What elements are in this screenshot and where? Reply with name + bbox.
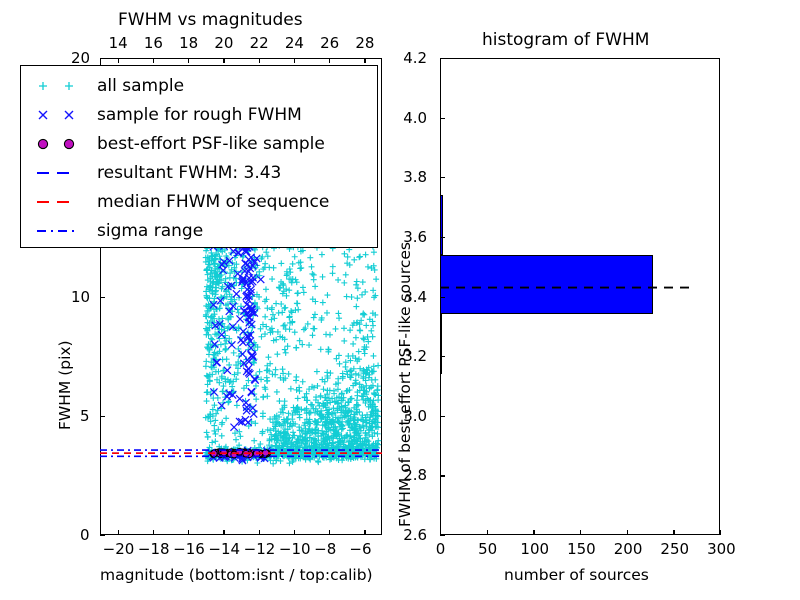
scatter-xtick-label-bottom: −20 xyxy=(103,542,135,557)
legend-item-1[interactable]: sample for rough FWHM xyxy=(21,101,379,129)
legend-marker-cross-icon xyxy=(29,101,77,129)
scatter-xtick-label-top: 18 xyxy=(179,36,198,51)
histogram-ytick-label: 4.2 xyxy=(403,51,427,66)
legend-label-4: median FHWM of sequence xyxy=(97,188,329,216)
figure-canvas: FWHM vs magnitudes FWHM (pix) magnitude … xyxy=(0,0,800,600)
legend-label-3: resultant FWHM: 3.43 xyxy=(97,159,281,187)
histogram-xtick xyxy=(720,530,721,535)
legend-item-5[interactable]: sigma range xyxy=(21,217,379,245)
scatter-xtick-top xyxy=(364,58,365,63)
scatter-xtick-bottom xyxy=(188,530,189,535)
scatter-ytick xyxy=(100,416,105,417)
histogram-y-axis-label: FWHM of best-effort PSF-like sources xyxy=(398,242,414,527)
scatter-xtick-label-bottom: −12 xyxy=(244,542,276,557)
scatter-ytick-label: 20 xyxy=(71,51,90,66)
scatter-ytick xyxy=(100,535,105,536)
legend-label-0: all sample xyxy=(97,72,184,100)
histogram-xtick xyxy=(580,530,581,535)
histogram-ytick xyxy=(440,475,445,476)
legend-item-2[interactable]: best-effort PSF-like sample xyxy=(21,130,379,158)
scatter-xtick-top xyxy=(188,58,189,63)
scatter-xtick-label-bottom: −6 xyxy=(349,542,371,557)
scatter-xtick-label-top: 20 xyxy=(214,36,233,51)
histogram-x-axis-label: number of sources xyxy=(504,568,649,584)
histogram-ytick xyxy=(440,535,445,536)
histogram-ytick xyxy=(440,237,445,238)
histogram-ytick-label: 3.4 xyxy=(403,290,427,305)
histogram-ytick-label: 3.8 xyxy=(403,170,427,185)
scatter-xtick-label-top: 16 xyxy=(144,36,163,51)
histogram-xtick xyxy=(673,530,674,535)
legend-item-4[interactable]: median FHWM of sequence xyxy=(21,188,379,216)
histogram-xtick-label: 150 xyxy=(567,542,596,557)
scatter-ytick xyxy=(100,297,105,298)
scatter-xtick-label-bottom: −14 xyxy=(208,542,240,557)
scatter-xtick-top xyxy=(329,58,330,63)
scatter-ytick xyxy=(100,58,105,59)
histogram-xtick-label: 200 xyxy=(614,542,643,557)
scatter-xtick-label-bottom: −18 xyxy=(138,542,170,557)
scatter-xtick-top xyxy=(223,58,224,63)
histogram-ytick xyxy=(440,118,445,119)
scatter-xtick-label-bottom: −16 xyxy=(173,542,205,557)
scatter-xtick-top xyxy=(294,58,295,63)
scatter-xtick-label-top: 28 xyxy=(355,36,374,51)
histogram-ytick xyxy=(440,416,445,417)
legend-item-0[interactable]: all sample xyxy=(21,72,379,100)
scatter-xtick-label-top: 24 xyxy=(285,36,304,51)
scatter-xtick-top xyxy=(259,58,260,63)
histogram-xtick-label: 50 xyxy=(478,542,497,557)
histogram-ytick xyxy=(440,297,445,298)
scatter-xtick-label-top: 22 xyxy=(250,36,269,51)
scatter-xtick-label-top: 26 xyxy=(320,36,339,51)
histogram-ytick xyxy=(440,177,445,178)
histogram-xtick-label: 250 xyxy=(660,542,689,557)
scatter-xtick-label-bottom: −10 xyxy=(279,542,311,557)
histogram-ytick xyxy=(440,356,445,357)
histogram-xtick-label: 100 xyxy=(520,542,549,557)
scatter-xtick-label-bottom: −8 xyxy=(314,542,336,557)
histogram-xtick xyxy=(627,530,628,535)
scatter-ytick-label: 5 xyxy=(80,409,90,424)
scatter-xtick-bottom xyxy=(118,530,119,535)
legend-marker-dashed-line-icon xyxy=(29,188,77,216)
scatter-xtick-label-top: 14 xyxy=(109,36,128,51)
scatter-ytick-label: 10 xyxy=(71,290,90,305)
legend-marker-dashed-line-icon xyxy=(29,159,77,187)
legend-label-2: best-effort PSF-like sample xyxy=(97,130,325,158)
histogram-xtick xyxy=(533,530,534,535)
histogram-ytick-label: 3.6 xyxy=(403,230,427,245)
histogram-xtick xyxy=(487,530,488,535)
plot-legend[interactable]: all samplesample for rough FWHMbest-effo… xyxy=(20,65,378,248)
legend-label-1: sample for rough FWHM xyxy=(97,101,302,129)
scatter-xtick-bottom xyxy=(259,530,260,535)
histogram-ytick-label: 2.6 xyxy=(403,528,427,543)
histogram-ytick-label: 2.8 xyxy=(403,468,427,483)
legend-marker-circle-icon xyxy=(29,130,77,158)
legend-marker-dashdot-line-icon xyxy=(29,217,77,245)
histogram-ytick xyxy=(440,58,445,59)
scatter-xtick-bottom xyxy=(294,530,295,535)
scatter-xtick-bottom xyxy=(153,530,154,535)
histogram-ytick-label: 3.0 xyxy=(403,409,427,424)
scatter-xtick-top xyxy=(153,58,154,63)
scatter-xtick-top xyxy=(118,58,119,63)
scatter-xtick-bottom xyxy=(364,530,365,535)
scatter-xtick-bottom xyxy=(329,530,330,535)
histogram-ytick-label: 3.2 xyxy=(403,349,427,364)
histogram-xtick-label: 0 xyxy=(436,542,446,557)
histogram-xtick-label: 300 xyxy=(707,542,736,557)
histogram-ytick-label: 4.0 xyxy=(403,111,427,126)
legend-label-5: sigma range xyxy=(97,217,203,245)
legend-item-3[interactable]: resultant FWHM: 3.43 xyxy=(21,159,379,187)
legend-marker-plus-icon xyxy=(29,72,77,100)
scatter-ytick-label: 0 xyxy=(80,528,90,543)
scatter-xtick-bottom xyxy=(223,530,224,535)
